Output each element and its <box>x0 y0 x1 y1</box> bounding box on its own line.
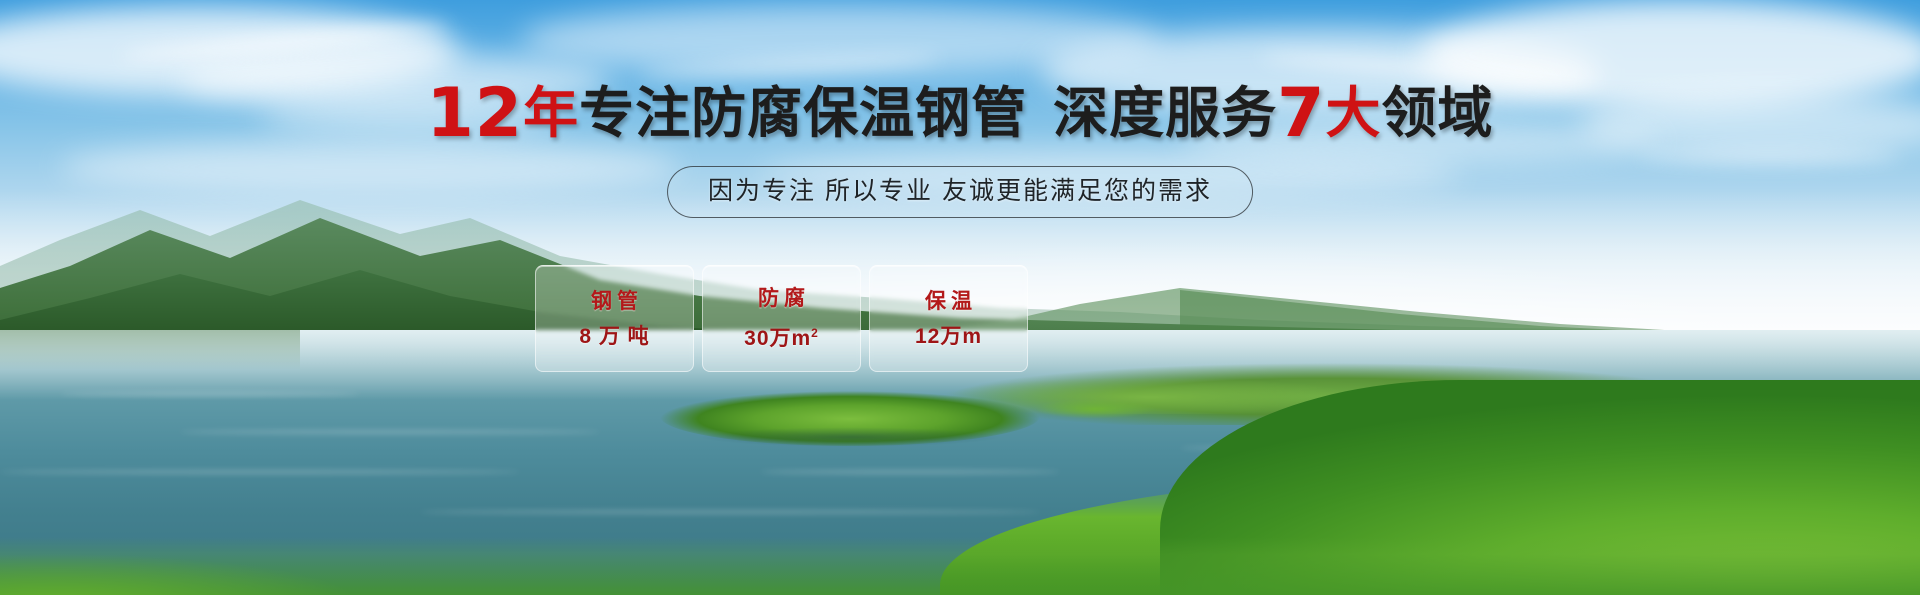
stat-card-title: 钢管 <box>586 290 643 313</box>
water-ripple <box>180 430 600 434</box>
water-ripple <box>0 470 520 474</box>
headline-fields-text: 领域 <box>1382 81 1494 145</box>
years-number: 12 <box>426 74 523 153</box>
fields-unit: 大 <box>1325 81 1381 145</box>
stat-card-value: 30万m2 <box>744 322 819 350</box>
stats-card-group: 钢管 8 万 吨 防腐 30万m2 保温 12万m <box>535 265 1028 372</box>
left-shoreline <box>0 330 300 370</box>
small-islet <box>1020 396 1170 422</box>
water-ripple <box>420 510 1040 514</box>
hero-banner: 12年专注防腐保温钢管深度服务7大领域 因为专注 所以专业 友诚更能满足您的需求… <box>0 0 1920 595</box>
headline-main-text: 专注防腐保温钢管 <box>579 81 1027 145</box>
stat-card-title: 保温 <box>920 290 977 313</box>
foreground-grass-left <box>0 525 560 595</box>
stat-card-value: 8 万 吨 <box>579 325 649 348</box>
water-ripple <box>760 470 1060 474</box>
water-ripple <box>60 392 360 396</box>
page-title: 12年专注防腐保温钢管深度服务7大领域 <box>0 82 1920 145</box>
fields-number: 7 <box>1277 74 1325 153</box>
years-unit: 年 <box>523 81 579 145</box>
stat-card-anticorrosion[interactable]: 防腐 30万m2 <box>702 265 861 372</box>
stat-card-title: 防腐 <box>753 287 810 310</box>
cloud-wisp <box>1640 150 1900 162</box>
stat-card-steel-pipe[interactable]: 钢管 8 万 吨 <box>535 265 694 372</box>
headline-service-text: 深度服务 <box>1053 81 1277 145</box>
stat-card-value: 12万m <box>915 325 982 348</box>
subtitle-pill: 因为专注 所以专业 友诚更能满足您的需求 <box>667 166 1253 218</box>
stat-card-insulation[interactable]: 保温 12万m <box>869 265 1028 372</box>
island-reflection <box>650 424 1050 450</box>
stat-card-superscript: 2 <box>811 326 819 340</box>
